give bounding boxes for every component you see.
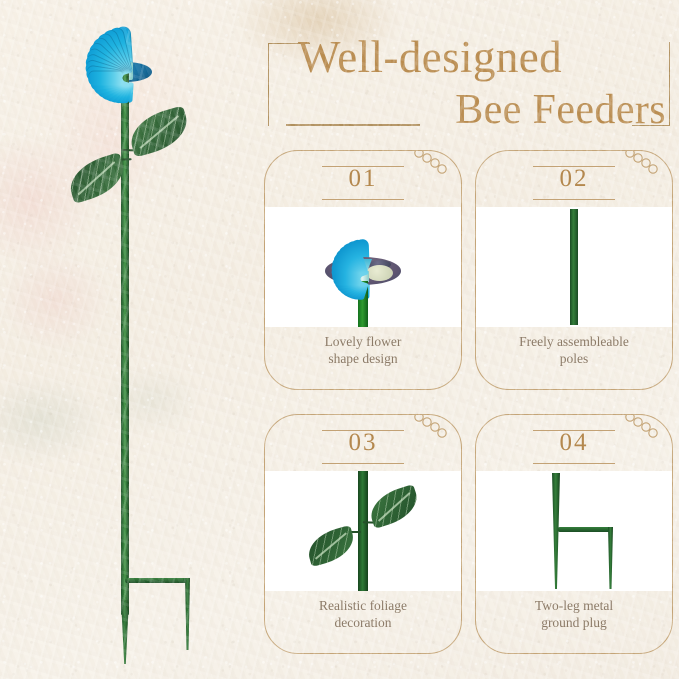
dish-content-pale bbox=[366, 265, 393, 281]
title-underline bbox=[286, 124, 420, 126]
product-hero-image bbox=[0, 0, 260, 679]
foliage-leaf-left-blade bbox=[304, 525, 358, 567]
title-block: Well-designed Bee Feeders bbox=[268, 18, 672, 136]
flower-petal bbox=[88, 71, 122, 86]
infographic-canvas: Well-designed Bee Feeders 01 Lovely f bbox=[0, 0, 679, 679]
card-02-caption-line2: poles bbox=[482, 350, 666, 367]
plug-crossbar bbox=[558, 527, 612, 532]
assembleable-pole-illustration bbox=[570, 209, 578, 325]
card-04-caption-line1: Two-leg metal bbox=[482, 597, 666, 614]
ground-plug-spike bbox=[121, 600, 129, 664]
feature-card-04[interactable]: 04 Two-leg metal ground plug bbox=[475, 414, 673, 654]
card-04-caption-line2: ground plug bbox=[482, 614, 666, 631]
card-04-caption: Two-leg metal ground plug bbox=[482, 597, 666, 631]
main-pole bbox=[121, 70, 129, 615]
card-01-caption-line1: Lovely flower bbox=[271, 333, 455, 350]
ground-plug-second-leg bbox=[185, 578, 190, 650]
dish-petal bbox=[333, 273, 360, 286]
bead-chain-icon bbox=[413, 414, 462, 461]
card-01-image-panel bbox=[265, 207, 461, 327]
card-01-rule-bottom bbox=[322, 199, 404, 200]
card-02-image-panel bbox=[476, 207, 672, 327]
foliage-leaf-right bbox=[365, 484, 422, 529]
card-03-caption-line2: decoration bbox=[271, 614, 455, 631]
foliage-leaf-left bbox=[304, 525, 358, 567]
foliage-leaf-right-blade bbox=[365, 484, 422, 529]
ground-plug-arm bbox=[125, 578, 190, 583]
bead-chain-icon bbox=[624, 414, 673, 461]
bead-chain-icon bbox=[413, 150, 462, 197]
upper-leaf bbox=[125, 105, 193, 157]
page-title-line1: Well-designed bbox=[298, 30, 672, 84]
card-01-caption: Lovely flower shape design bbox=[271, 333, 455, 367]
card-01-caption-line2: shape design bbox=[271, 350, 455, 367]
feature-card-01[interactable]: 01 Lovely flower shape design bbox=[264, 150, 462, 390]
card-04-rule-bottom bbox=[533, 463, 615, 464]
card-03-rule-bottom bbox=[322, 463, 404, 464]
card-02-caption-line1: Freely assembleable bbox=[482, 333, 666, 350]
card-03-caption-line1: Realistic foliage bbox=[271, 597, 455, 614]
page-title-line2: Bee Feeders bbox=[455, 84, 666, 136]
card-02-caption: Freely assembleable poles bbox=[482, 333, 666, 367]
card-03-caption: Realistic foliage decoration bbox=[271, 597, 455, 631]
feature-card-grid: 01 Lovely flower shape design bbox=[264, 150, 676, 670]
bead-chain-icon bbox=[624, 150, 673, 197]
card-03-image-panel bbox=[265, 471, 461, 591]
card-04-image-panel bbox=[476, 471, 672, 591]
flower-dish-head bbox=[54, 22, 198, 80]
card-02-rule-bottom bbox=[533, 199, 615, 200]
feature-card-02[interactable]: 02 Freely assembleable poles bbox=[475, 150, 673, 390]
upper-leaf-blade bbox=[125, 105, 193, 157]
plug-short-leg bbox=[608, 527, 613, 589]
feature-card-03[interactable]: 03 Realistic foliage decoration bbox=[264, 414, 462, 654]
